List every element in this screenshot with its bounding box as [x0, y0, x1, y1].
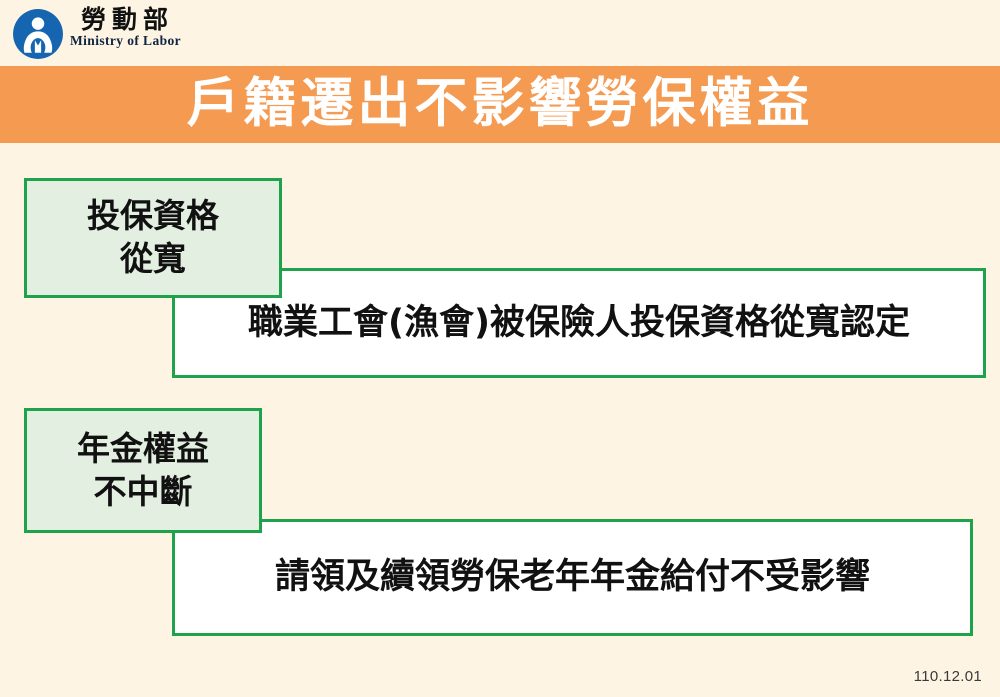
logo-name-en: Ministry of Labor: [70, 34, 181, 49]
detail-box-1: 職業工會(漁會)被保險人投保資格從寬認定: [172, 268, 986, 378]
label-box-1: 投保資格 從寬: [24, 178, 282, 298]
publication-date: 110.12.01: [914, 668, 982, 685]
label-box-1-line-1: 投保資格: [87, 195, 219, 238]
label-box-2-line-1: 年金權益: [77, 428, 209, 471]
ministry-of-labor-emblem-icon: [12, 8, 64, 60]
ministry-logo: 勞動部 Ministry of Labor: [12, 6, 181, 60]
detail-text-1: 職業工會(漁會)被保險人投保資格從寬認定: [248, 303, 910, 343]
label-box-1-line-2: 從寬: [120, 238, 186, 281]
detail-text-2: 請領及續領勞保老年年金給付不受影響: [275, 557, 870, 597]
detail-box-2: 請領及續領勞保老年年金給付不受影響: [172, 519, 973, 636]
page-title: 戶籍遷出不影響勞保權益: [187, 77, 814, 132]
poster-canvas: 勞動部 Ministry of Labor 戶籍遷出不影響勞保權益 職業工會(漁…: [0, 0, 1000, 697]
title-banner: 戶籍遷出不影響勞保權益: [0, 66, 1000, 143]
label-box-2: 年金權益 不中斷: [24, 408, 262, 533]
logo-name-zh: 勞動部: [77, 6, 174, 33]
label-box-2-line-2: 不中斷: [94, 471, 193, 514]
